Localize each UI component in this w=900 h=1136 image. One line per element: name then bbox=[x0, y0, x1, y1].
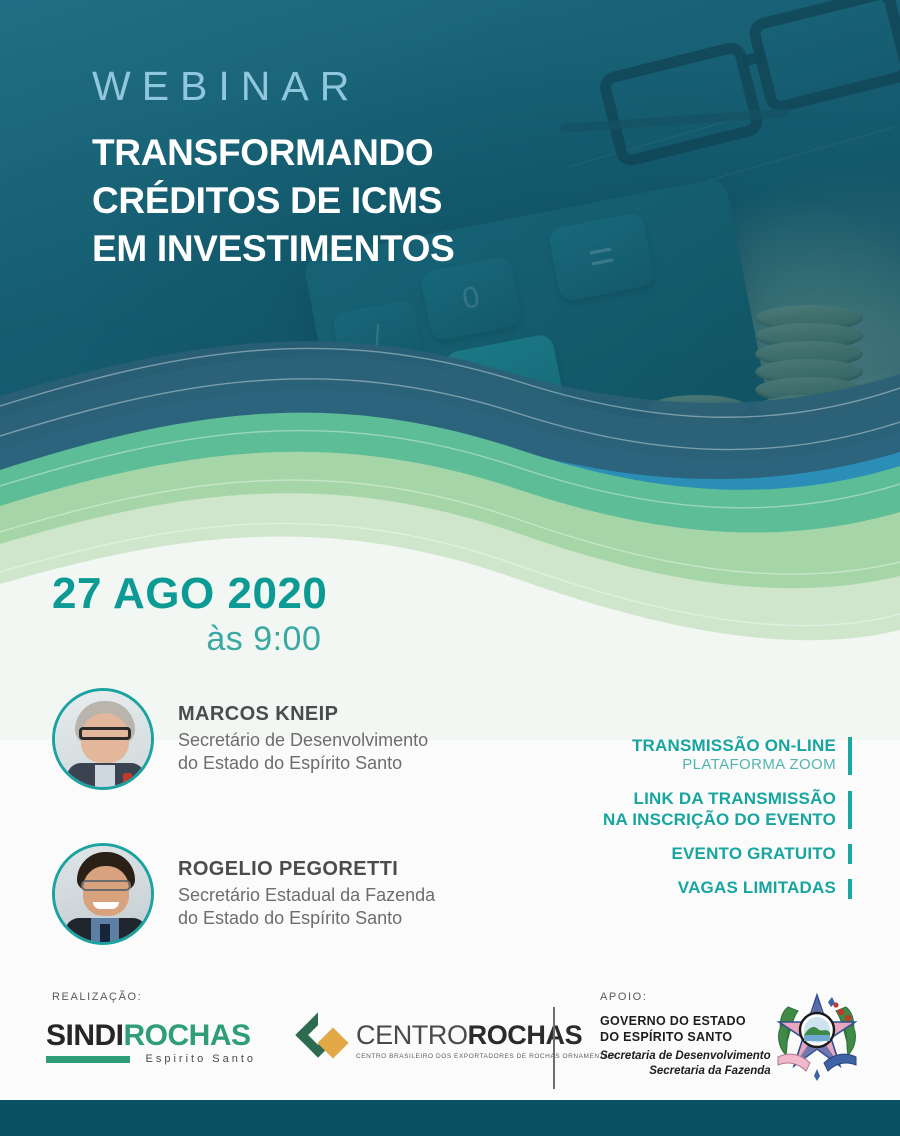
speaker-name: MARCOS KNEIP bbox=[178, 703, 428, 726]
governo-block: GOVERNO DO ESTADO DO ESPÍRITO SANTO Secr… bbox=[600, 1013, 771, 1080]
wave-decoration bbox=[0, 300, 900, 740]
event-info-list: TRANSMISSÃO ON-LINE PLATAFORMA ZOOM LINK… bbox=[603, 736, 852, 899]
info-accent-bar bbox=[848, 737, 852, 775]
centrorochas-logo: CENTROROCHAS CENTRO BRASILEIRO DOS EXPOR… bbox=[302, 1019, 616, 1063]
webinar-poster: = 0 / | + bbox=[0, 0, 900, 1136]
speaker-role: Secretário de Desenvolvimento do Estado … bbox=[178, 729, 428, 774]
title-line-1: TRANSFORMANDO bbox=[92, 129, 455, 177]
event-date-block: 27 AGO 2020 às 9:00 bbox=[52, 572, 327, 659]
realizacao-label: REALIZAÇÃO: bbox=[52, 991, 142, 1003]
speaker-role: Secretário Estadual da Fazenda do Estado… bbox=[178, 884, 435, 929]
sindirochas-part2: ROCHAS bbox=[124, 1019, 251, 1053]
title-line-3: EM INVESTIMENTOS bbox=[92, 225, 455, 273]
speaker-role-line-1: Secretário de Desenvolvimento bbox=[178, 729, 428, 752]
centrorochas-mark-icon bbox=[302, 1019, 348, 1063]
centrorochas-subtitle: CENTRO BRASILEIRO DOS EXPORTADORES DE RO… bbox=[356, 1053, 616, 1060]
sindirochas-logo: SINDI ROCHAS Espirito Santo bbox=[46, 1019, 258, 1063]
info-accent-bar bbox=[848, 879, 852, 899]
centrorochas-part1: CENTRO bbox=[356, 1020, 468, 1050]
governo-line-2: DO ESPÍRITO SANTO bbox=[600, 1029, 771, 1045]
speaker-text: MARCOS KNEIP Secretário de Desenvolvimen… bbox=[178, 703, 428, 774]
footer-divider bbox=[553, 1007, 555, 1089]
footer: REALIZAÇÃO: SINDI ROCHAS Espirito Santo … bbox=[0, 975, 900, 1100]
event-date: 27 AGO 2020 bbox=[52, 572, 327, 616]
speaker-role-line-2: do Estado do Espírito Santo bbox=[178, 907, 435, 930]
info-strong-line-1: LINK DA TRANSMISSÃO bbox=[603, 789, 836, 809]
speaker-role-line-2: do Estado do Espírito Santo bbox=[178, 752, 428, 775]
info-item-link: LINK DA TRANSMISSÃO NA INSCRIÇÃO DO EVEN… bbox=[603, 789, 852, 830]
speaker-marcos-kneip: MARCOS KNEIP Secretário de Desenvolvimen… bbox=[52, 688, 428, 790]
centrorochas-part2: ROCHAS bbox=[468, 1020, 583, 1050]
avatar-photo-marcos-kneip bbox=[55, 691, 151, 787]
sindirochas-subtitle: Espirito Santo bbox=[146, 1053, 256, 1065]
speaker-text: ROGELIO PEGORETTI Secretário Estadual da… bbox=[178, 858, 435, 929]
avatar-photo-rogelio-pegoretti bbox=[55, 846, 151, 942]
info-accent-bar bbox=[848, 844, 852, 864]
webinar-eyebrow: WEBINAR bbox=[92, 66, 455, 107]
governo-line-3: Secretaria de Desenvolvimento bbox=[600, 1049, 771, 1065]
avatar bbox=[52, 843, 154, 945]
sindirochas-underline bbox=[46, 1056, 130, 1063]
info-accent-bar bbox=[848, 791, 852, 829]
hero-text: WEBINAR TRANSFORMANDO CRÉDITOS DE ICMS E… bbox=[92, 66, 455, 273]
info-strong: TRANSMISSÃO ON-LINE bbox=[632, 736, 836, 756]
governo-line-4: Secretaria da Fazenda bbox=[600, 1064, 771, 1080]
event-time: às 9:00 bbox=[52, 620, 327, 659]
speaker-role-line-1: Secretário Estadual da Fazenda bbox=[178, 884, 435, 907]
title-line-2: CRÉDITOS DE ICMS bbox=[92, 177, 455, 225]
speaker-name: ROGELIO PEGORETTI bbox=[178, 858, 435, 881]
footer-logos: SINDI ROCHAS Espirito Santo CENTROROCHAS… bbox=[46, 1019, 616, 1063]
info-item-transmissao: TRANSMISSÃO ON-LINE PLATAFORMA ZOOM bbox=[603, 736, 852, 775]
info-strong-line-2: NA INSCRIÇÃO DO EVENTO bbox=[603, 810, 836, 830]
speaker-rogelio-pegoretti: ROGELIO PEGORETTI Secretário Estadual da… bbox=[52, 843, 435, 945]
info-item-gratuito: EVENTO GRATUITO bbox=[603, 844, 852, 864]
bottom-bar bbox=[0, 1100, 900, 1136]
sindirochas-part1: SINDI bbox=[46, 1019, 124, 1053]
espirito-santo-coat-of-arms-icon bbox=[768, 985, 866, 1085]
info-strong: EVENTO GRATUITO bbox=[671, 844, 836, 864]
apoio-label: APOIO: bbox=[600, 991, 648, 1003]
info-strong: VAGAS LIMITADAS bbox=[678, 878, 836, 898]
avatar bbox=[52, 688, 154, 790]
governo-line-1: GOVERNO DO ESTADO bbox=[600, 1013, 771, 1029]
info-item-vagas: VAGAS LIMITADAS bbox=[603, 878, 852, 898]
info-light: PLATAFORMA ZOOM bbox=[632, 756, 836, 775]
